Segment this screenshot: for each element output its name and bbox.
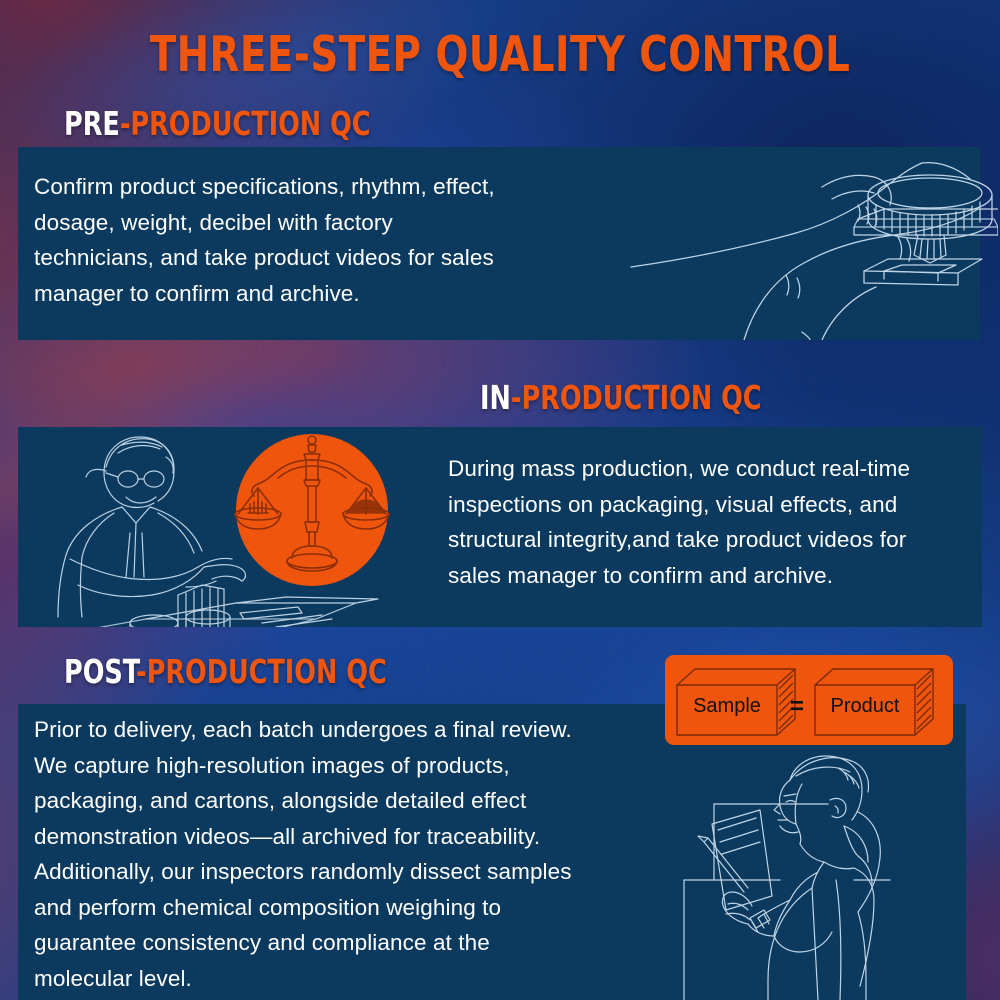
badge-left-label: Sample — [679, 695, 775, 718]
section-body-in-production: During mass production, we conduct real-… — [448, 451, 982, 593]
section-panel-post-production: Prior to delivery, each batch undergoes … — [18, 704, 966, 1000]
section-heading-in-production: IN-PRODUCTION QC — [480, 378, 762, 417]
sample-equals-product-badge: Sample = Product — [665, 655, 953, 745]
hand-holding-device-icon — [626, 147, 998, 340]
heading-white-part: PRE — [64, 104, 120, 143]
section-heading-post-production: POST-PRODUCTION QC — [64, 652, 387, 691]
man-with-clipboard-icon — [668, 746, 968, 1000]
heading-orange-part: -PRODUCTION QC — [136, 652, 387, 691]
badge-right-label: Product — [817, 695, 913, 718]
section-heading-pre-production: PRE-PRODUCTION QC — [64, 104, 370, 143]
heading-white-part: IN — [480, 378, 511, 417]
balance-scale-icon — [232, 430, 392, 590]
heading-orange-part: -PRODUCTION QC — [120, 104, 371, 143]
heading-orange-part: -PRODUCTION QC — [511, 378, 762, 417]
section-panel-pre-production: Confirm product specifications, rhythm, … — [18, 147, 980, 340]
section-panel-in-production: During mass production, we conduct real-… — [18, 427, 982, 627]
badge-equals-sign: = — [783, 693, 811, 721]
section-body-post-production: Prior to delivery, each batch undergoes … — [34, 712, 664, 996]
infographic-poster: THREE-STEP QUALITY CONTROL PRE-PRODUCTIO… — [0, 0, 1000, 1000]
heading-white-part: POST — [64, 652, 136, 691]
section-body-pre-production: Confirm product specifications, rhythm, … — [34, 169, 574, 311]
page-title: THREE-STEP QUALITY CONTROL — [60, 26, 940, 83]
